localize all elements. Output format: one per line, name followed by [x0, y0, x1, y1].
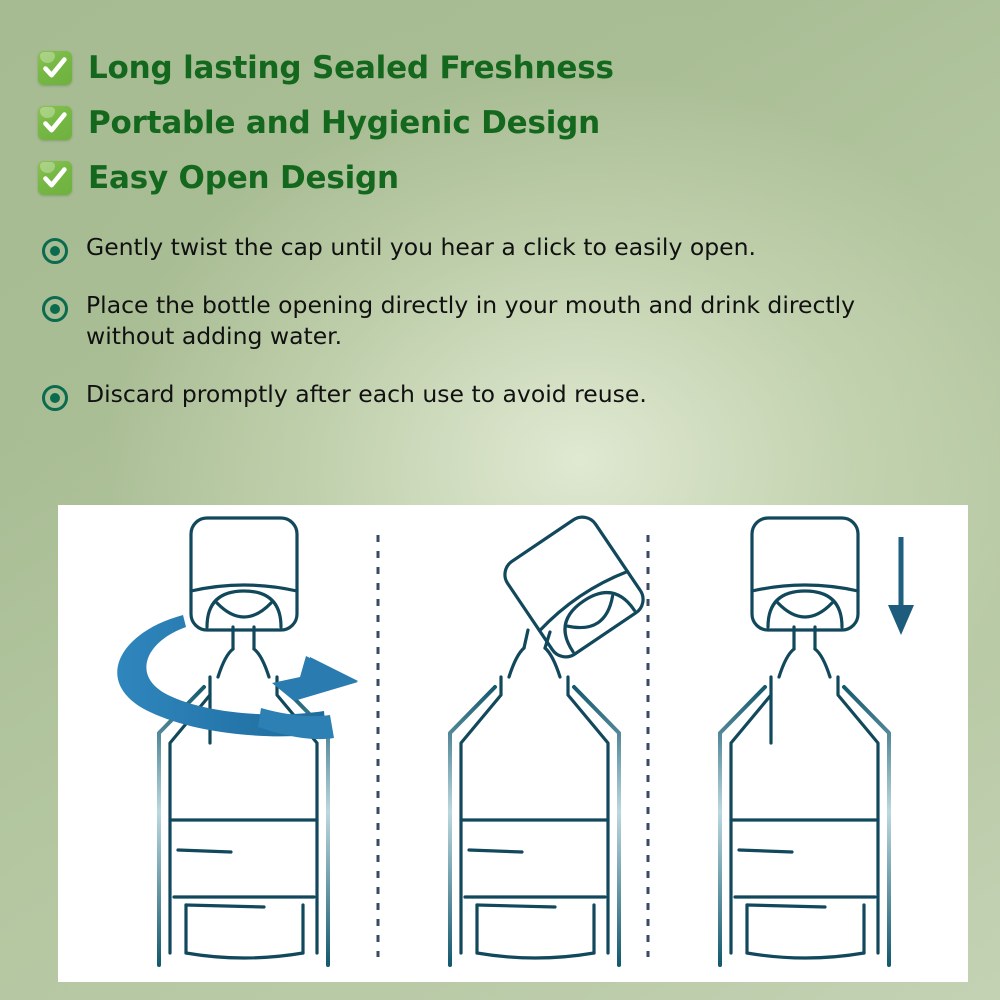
- instruction-item: Place the bottle opening directly in you…: [42, 290, 872, 353]
- target-ring-icon: [42, 296, 68, 322]
- feature-label: Long lasting Sealed Freshness: [88, 50, 614, 86]
- infographic-canvas: Long lasting Sealed Freshness Portable a…: [0, 0, 1000, 1000]
- instruction-label: Discard promptly after each use to avoid…: [86, 379, 647, 410]
- target-ring-icon: [42, 385, 68, 411]
- feature-label: Portable and Hygienic Design: [88, 105, 600, 141]
- feature-list: Long lasting Sealed Freshness Portable a…: [38, 40, 738, 205]
- instruction-item: Gently twist the cap until you hear a cl…: [42, 232, 872, 264]
- remove-cap-step: [450, 630, 619, 965]
- instruction-list: Gently twist the cap until you hear a cl…: [42, 232, 872, 411]
- target-ring-icon: [42, 238, 68, 264]
- feature-item: Easy Open Design: [38, 150, 738, 205]
- instruction-label: Gently twist the cap until you hear a cl…: [86, 232, 756, 263]
- check-square-icon: [38, 106, 72, 140]
- tilted-cap-icon: [499, 511, 650, 663]
- feature-item: Long lasting Sealed Freshness: [38, 40, 738, 95]
- twist-cap-step: [159, 518, 328, 965]
- feature-label: Easy Open Design: [88, 160, 399, 196]
- check-square-icon: [38, 51, 72, 85]
- down-arrow-icon: [888, 537, 914, 635]
- press-cap-step: [720, 518, 889, 965]
- instruction-label: Place the bottle opening directly in you…: [86, 290, 856, 353]
- rotate-arrow-icon: [117, 615, 358, 739]
- feature-item: Portable and Hygienic Design: [38, 95, 738, 150]
- illustration-panel: [58, 505, 968, 982]
- instruction-item: Discard promptly after each use to avoid…: [42, 379, 872, 411]
- check-square-icon: [38, 161, 72, 195]
